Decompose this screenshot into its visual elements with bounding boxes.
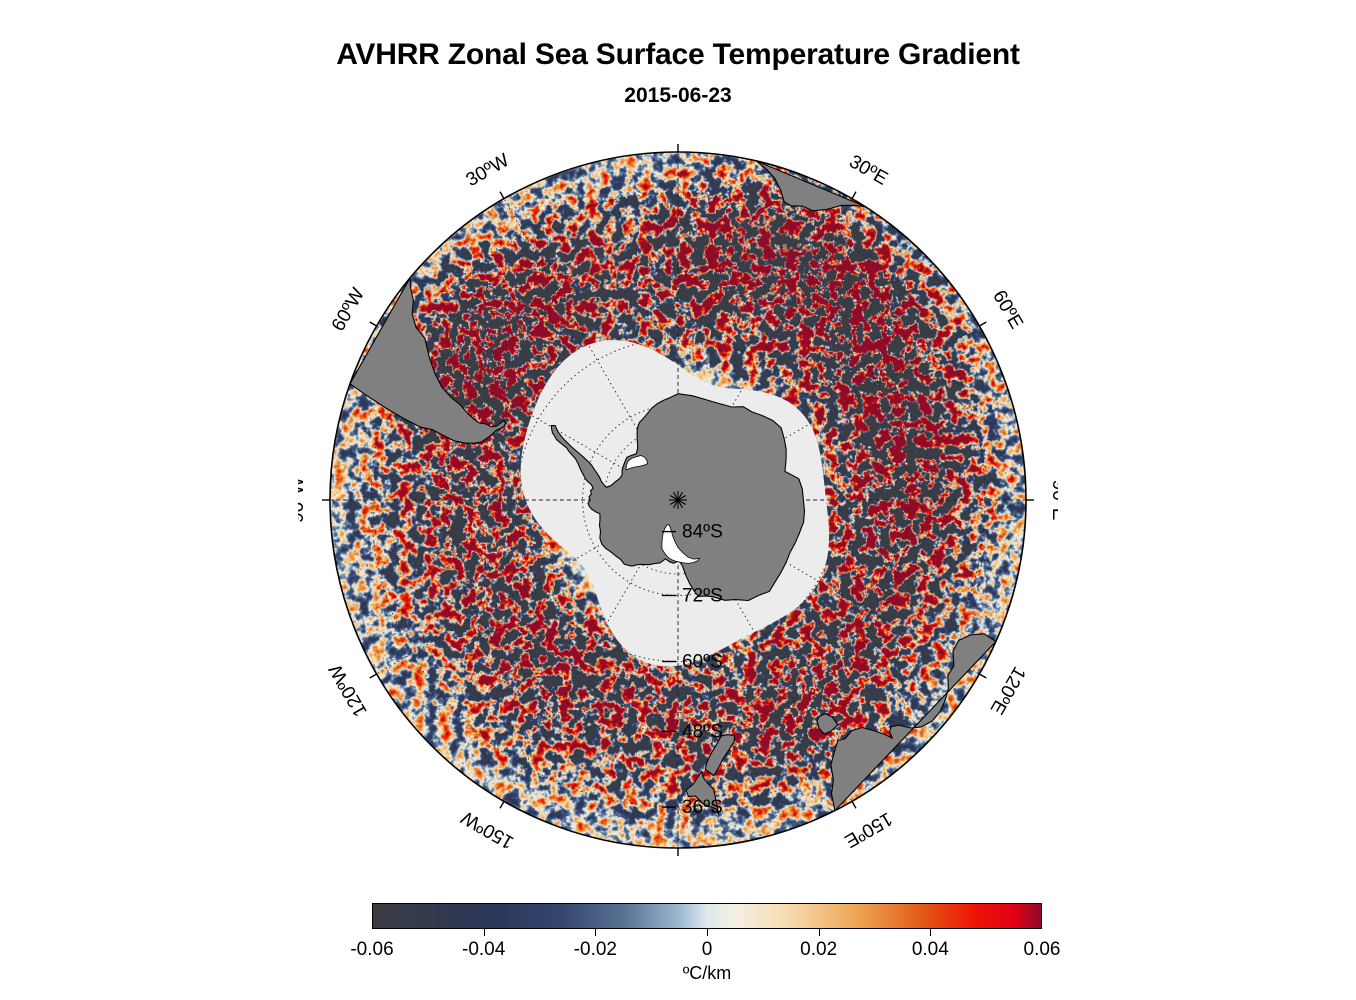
page-title: AVHRR Zonal Sea Surface Temperature Grad… <box>0 38 1356 72</box>
colorbar-tick-label: 0.06 <box>982 939 1102 961</box>
longitude-label: 60ºW <box>328 285 369 335</box>
colorbar-tick <box>930 929 931 936</box>
colorbar[interactable]: ºC/km -0.06-0.04-0.0200.020.040.06 <box>372 903 1042 929</box>
colorbar-tick <box>819 929 820 936</box>
latitude-label: 48ºS <box>682 721 723 742</box>
page-subtitle: 2015-06-23 <box>0 84 1356 108</box>
polar-map-svg: 0º30ºE60ºE90ºE120ºE150ºE180ºW150ºW120ºW9… <box>298 128 1058 873</box>
latitude-label: 60ºS <box>682 652 723 673</box>
latitude-label: 72ºS <box>682 585 723 606</box>
longitude-label: 0º <box>669 128 687 130</box>
colorbar-tick <box>484 929 485 936</box>
figure-canvas: AVHRR Zonal Sea Surface Temperature Grad… <box>0 0 1356 1000</box>
colorbar-tick-label: 0.04 <box>870 939 990 961</box>
colorbar-tick-label: 0.02 <box>759 939 879 961</box>
latitude-label: 84ºS <box>682 522 723 543</box>
latitude-label: 36ºS <box>682 797 723 818</box>
polar-map: 0º30ºE60ºE90ºE120ºE150ºE180ºW150ºW120ºW9… <box>298 128 1058 873</box>
longitude-label: 150ºW <box>458 806 518 853</box>
colorbar-tick-label: -0.04 <box>424 939 544 961</box>
colorbar-unit-label: ºC/km <box>372 963 1042 984</box>
colorbar-tick <box>707 929 708 936</box>
longitude-label: 180ºW <box>650 870 707 873</box>
longitude-label: 120ºE <box>986 663 1030 718</box>
longitude-label: 150ºE <box>841 808 896 852</box>
longitude-label: 60ºE <box>988 287 1027 333</box>
longitude-label: 90ºE <box>1048 480 1058 521</box>
colorbar-tick-label: -0.06 <box>312 939 432 961</box>
colorbar-tick-label: 0 <box>647 939 767 961</box>
longitude-label: 120ºW <box>325 660 372 720</box>
colorbar-tick <box>595 929 596 936</box>
longitude-label: 90ºW <box>298 477 308 523</box>
longitude-label: 30ºW <box>463 150 513 191</box>
longitude-label: 30ºE <box>845 151 891 190</box>
colorbar-tick-label: -0.02 <box>535 939 655 961</box>
colorbar-gradient[interactable] <box>372 903 1042 929</box>
